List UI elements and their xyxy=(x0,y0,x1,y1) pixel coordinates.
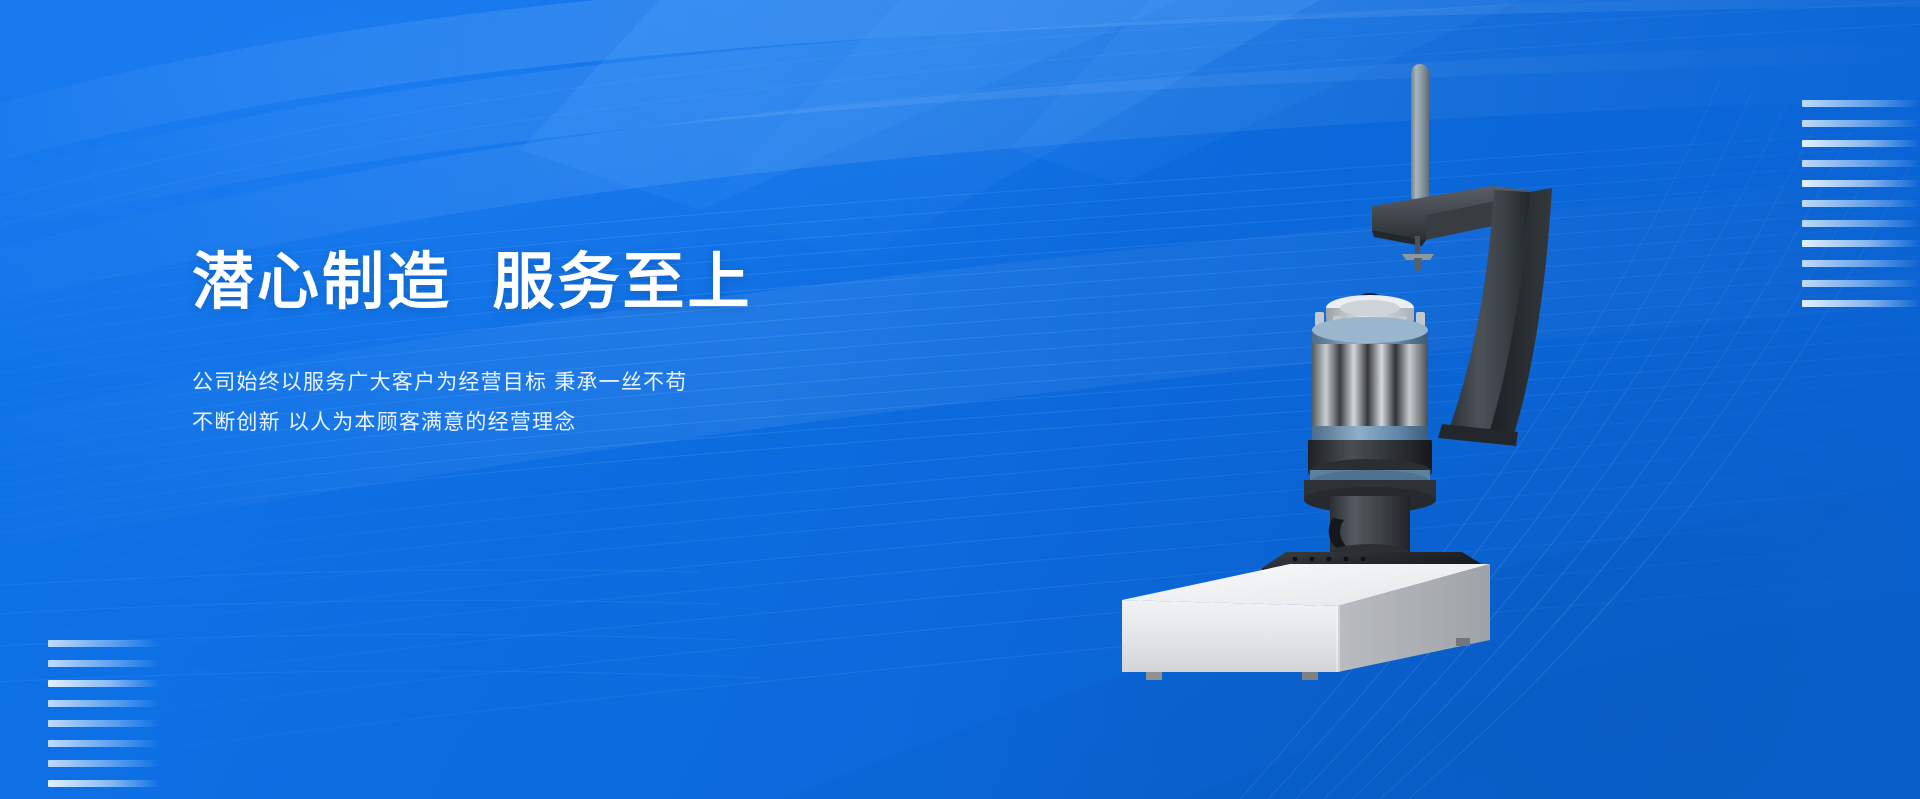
left-bottom-dash-stack xyxy=(48,640,160,799)
dash-mark xyxy=(1802,260,1920,267)
product-image-industrial-press-machine xyxy=(1090,40,1650,680)
subtitle-line-1: 公司始终以服务广大客户为经营目标 秉承一丝不苟 xyxy=(192,363,1012,403)
banner-subtitle: 公司始终以服务广大客户为经营目标 秉承一丝不苟 不断创新 以人为本顾客满意的经营… xyxy=(192,363,1012,443)
right-edge-dash-stack xyxy=(1802,100,1920,307)
dash-mark xyxy=(48,680,160,687)
hero-banner: 潜心制造 服务至上 公司始终以服务广大客户为经营目标 秉承一丝不苟 不断创新 以… xyxy=(0,0,1920,799)
dash-mark xyxy=(1802,180,1920,187)
dash-mark xyxy=(1802,300,1920,307)
dash-mark xyxy=(48,640,160,647)
subtitle-line-2: 不断创新 以人为本顾客满意的经营理念 xyxy=(192,403,1012,443)
dash-mark xyxy=(1802,120,1920,127)
dash-mark xyxy=(1802,220,1920,227)
dash-mark xyxy=(1802,100,1920,107)
dash-mark xyxy=(1802,280,1920,287)
vertical-guide-rod xyxy=(1411,64,1429,204)
dash-mark xyxy=(1802,160,1920,167)
dash-mark xyxy=(1802,240,1920,247)
banner-text-block: 潜心制造 服务至上 公司始终以服务广大客户为经营目标 秉承一丝不苟 不断创新 以… xyxy=(192,246,1012,443)
dash-mark xyxy=(48,700,160,707)
dash-mark xyxy=(48,660,160,667)
dash-mark xyxy=(48,720,160,727)
dash-mark xyxy=(48,740,160,747)
dash-mark xyxy=(1802,200,1920,207)
cabinet-pedestal xyxy=(1122,564,1490,672)
dash-mark xyxy=(48,760,160,767)
dash-mark xyxy=(1802,140,1920,147)
dash-mark xyxy=(48,780,160,787)
page-title: 潜心制造 服务至上 xyxy=(192,246,1012,319)
finned-cylinder-head xyxy=(1308,293,1432,494)
